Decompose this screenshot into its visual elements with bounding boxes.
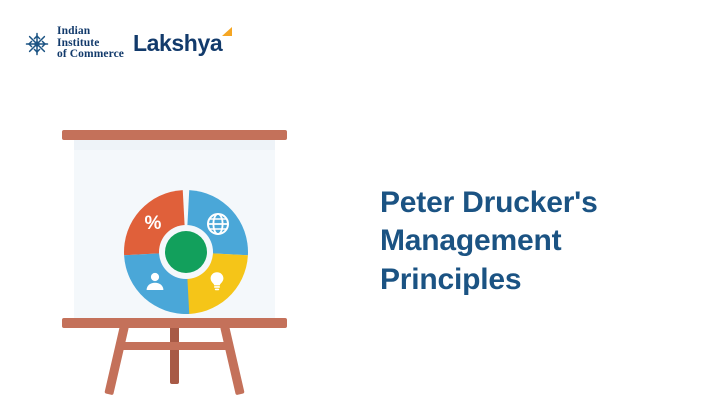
easel-leg-left xyxy=(104,325,129,395)
board-top-rail xyxy=(62,130,287,140)
easel-leg-right xyxy=(220,325,245,395)
easel-presentation-board: % xyxy=(62,130,287,365)
lightbulb-icon xyxy=(206,270,228,292)
page-title: Peter Drucker's Management Principles xyxy=(380,184,690,299)
easel-leg-center xyxy=(170,326,179,384)
lakshya-wordmark: Lakshya xyxy=(133,32,222,55)
easel-crossbar xyxy=(118,342,233,350)
institute-name: Indian Institute of Commerce xyxy=(57,26,124,61)
four-segment-donut-chart: % xyxy=(120,186,252,318)
institute-line-1: Indian xyxy=(57,26,124,38)
snowflake-emblem-icon xyxy=(24,31,50,57)
institute-line-3: of Commerce xyxy=(57,49,124,61)
person-icon xyxy=(144,270,166,292)
accent-triangle-icon xyxy=(222,27,232,36)
brand-logo: Indian Institute of Commerce Lakshya xyxy=(24,26,222,61)
board-bottom-rail xyxy=(62,318,287,328)
board-sheet: % xyxy=(74,150,275,318)
percent-icon: % xyxy=(142,213,164,235)
lakshya-text: Lakshya xyxy=(133,32,222,55)
globe-icon xyxy=(206,212,230,236)
